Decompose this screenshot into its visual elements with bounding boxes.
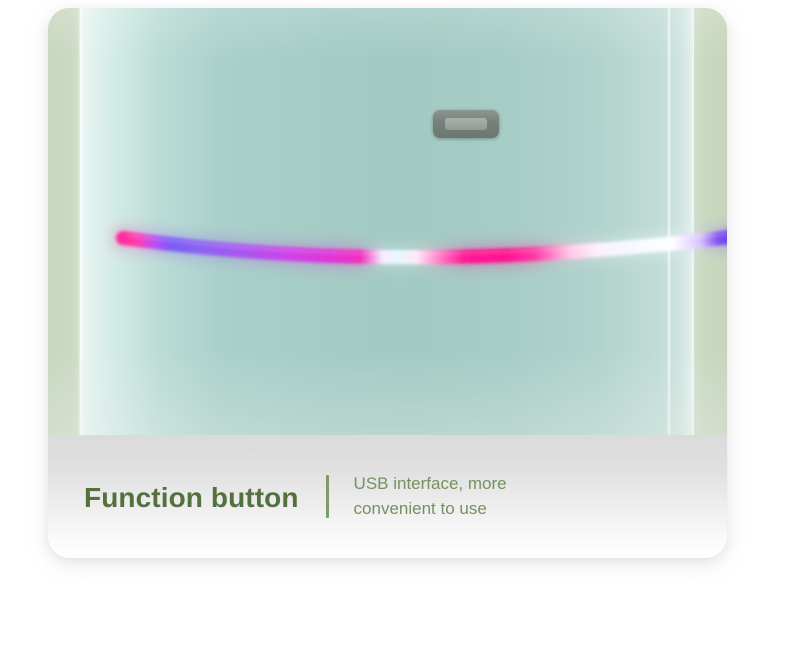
device-body (80, 8, 694, 435)
caption-divider (326, 475, 329, 518)
usb-port-icon (433, 110, 499, 138)
photo-backdrop-left (48, 8, 81, 435)
product-photo (48, 8, 727, 435)
usb-port-opening (445, 118, 487, 130)
caption-title: Function button (84, 484, 299, 512)
caption-subtitle: USB interface, more convenient to use (354, 472, 507, 520)
device-edge-highlight-left (78, 8, 82, 435)
caption-subtitle-line-1: USB interface, more (354, 472, 507, 496)
device-edge-highlight-right (667, 8, 671, 435)
feature-card: Function button USB interface, more conv… (48, 8, 727, 558)
photo-backdrop-right (693, 8, 727, 435)
caption-subtitle-line-2: convenient to use (354, 497, 507, 521)
caption-bar: Function button USB interface, more conv… (48, 435, 727, 558)
